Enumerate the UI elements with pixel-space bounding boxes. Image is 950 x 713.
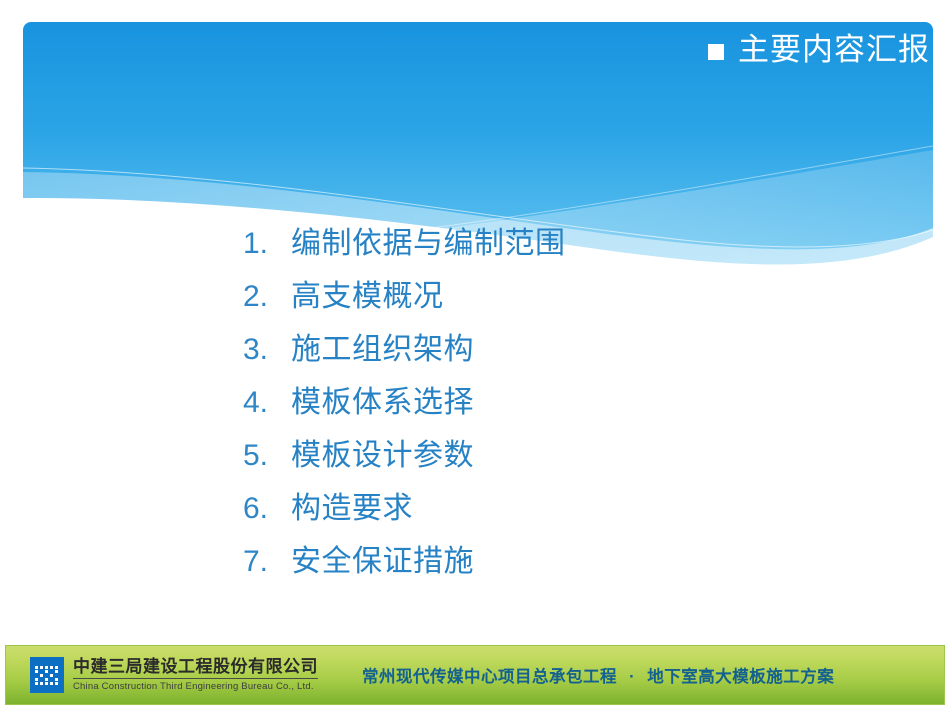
agenda-item-4[interactable]: 4. 模板体系选择 [243,377,883,430]
agenda-item-3[interactable]: 3. 施工组织架构 [243,324,883,377]
agenda-item-6[interactable]: 6. 构造要求 [243,483,883,536]
footer-separator: · [622,668,642,686]
footer-project-name: 常州现代传媒中心项目总承包工程 [362,668,617,686]
company-name-block: 中建三局建设工程股份有限公司 China Construction Third … [73,657,318,694]
footer-caption: 常州现代传媒中心项目总承包工程 · 地下室高大模板施工方案 [362,663,834,687]
agenda-item-number: 4. [243,386,291,420]
agenda-item-7[interactable]: 7. 安全保证措施 [243,536,883,589]
agenda-item-5[interactable]: 5. 模板设计参数 [243,430,883,483]
agenda-item-2[interactable]: 2. 高支模概况 [243,271,883,324]
page-title: 主要内容汇报 [738,33,930,67]
company-logo-block: 中建三局建设工程股份有限公司 China Construction Third … [30,657,318,694]
slide-canvas: 主要内容汇报 1. 编制依据与编制范围 2. 高支模概况 3. 施工组织架构 4… [0,0,950,713]
agenda-item-number: 2. [243,280,291,314]
agenda-item-number: 6. [243,492,291,526]
agenda-item-number: 5. [243,439,291,473]
agenda-item-label: 安全保证措施 [291,536,474,580]
footer-subject: 地下室高大模板施工方案 [647,668,834,686]
cscec-logo-icon [30,657,64,693]
agenda-list: 1. 编制依据与编制范围 2. 高支模概况 3. 施工组织架构 4. 模板体系选… [243,218,883,589]
agenda-item-number: 3. [243,333,291,367]
square-bullet-icon [708,44,724,60]
footer-bar: 中建三局建设工程股份有限公司 China Construction Third … [5,645,945,705]
agenda-item-label: 施工组织架构 [291,324,474,368]
company-name-en: China Construction Third Engineering Bur… [73,681,318,694]
header-title-row: 主要内容汇报 [708,33,930,67]
agenda-item-label: 模板设计参数 [291,430,474,474]
agenda-item-number: 7. [243,545,291,579]
agenda-item-label: 高支模概况 [291,271,444,315]
agenda-item-1[interactable]: 1. 编制依据与编制范围 [243,218,883,271]
agenda-item-label: 编制依据与编制范围 [291,218,566,262]
agenda-item-number: 1. [243,227,291,261]
agenda-item-label: 构造要求 [291,483,413,527]
company-name-cn: 中建三局建设工程股份有限公司 [73,657,318,679]
agenda-item-label: 模板体系选择 [291,377,474,421]
